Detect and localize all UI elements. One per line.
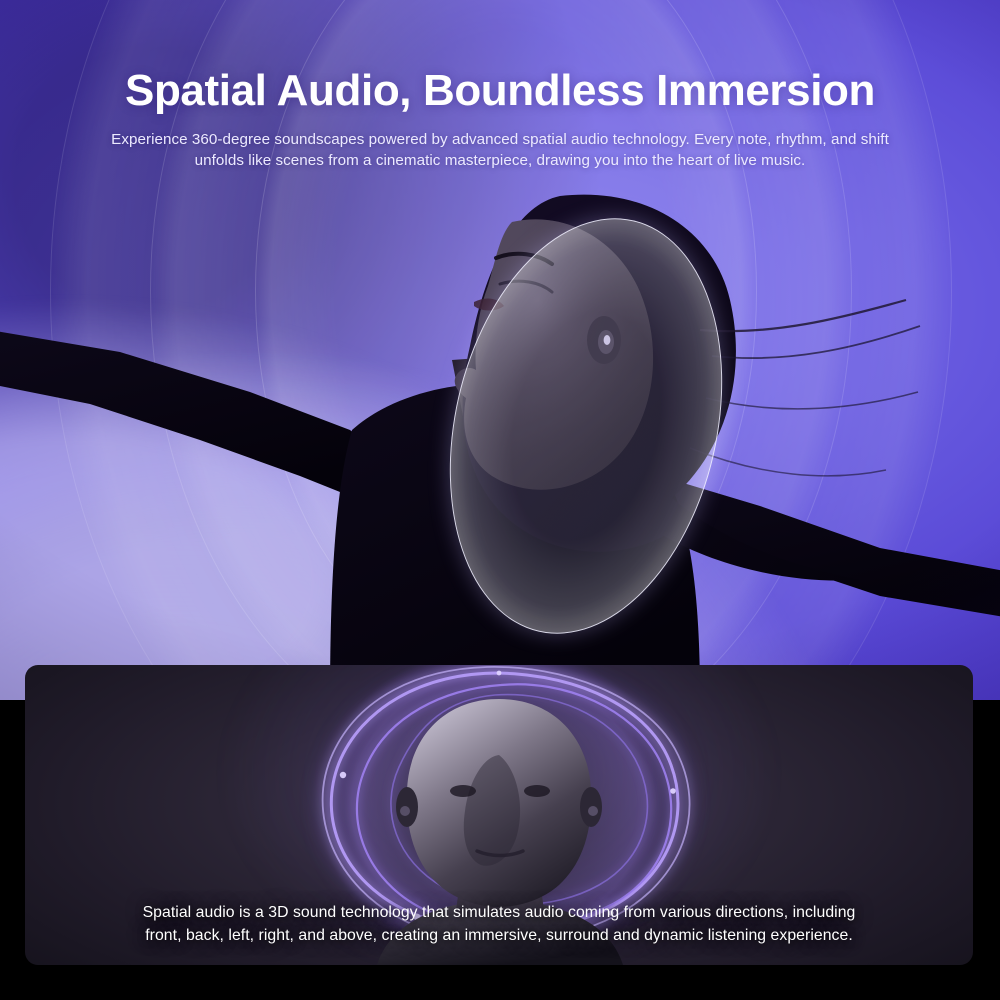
- panel-caption-line-2: front, back, left, right, and above, cre…: [25, 924, 973, 947]
- page-root: Spatial Audio, Boundless Immersion Exper…: [0, 0, 1000, 1000]
- footer-black-bar: [0, 960, 1000, 1000]
- hero-section: Spatial Audio, Boundless Immersion Exper…: [0, 0, 1000, 700]
- hero-lavender-sweep-bright: [0, 300, 560, 700]
- panel-caption: Spatial audio is a 3D sound technology t…: [25, 901, 973, 947]
- spatial-audio-ellipse-icon: [411, 191, 761, 661]
- hero-subtitle-line-1: Experience 360-degree soundscapes powere…: [111, 131, 827, 148]
- spatial-audio-demo-panel: Spatial audio is a 3D sound technology t…: [25, 665, 973, 965]
- page-title: Spatial Audio, Boundless Immersion: [0, 0, 1000, 115]
- hero-subtitle: Experience 360-degree soundscapes powere…: [100, 129, 900, 171]
- panel-caption-line-1: Spatial audio is a 3D sound technology t…: [25, 901, 973, 924]
- hero-text-block: Spatial Audio, Boundless Immersion Exper…: [0, 0, 1000, 171]
- hero-lavender-sweep: [0, 350, 840, 700]
